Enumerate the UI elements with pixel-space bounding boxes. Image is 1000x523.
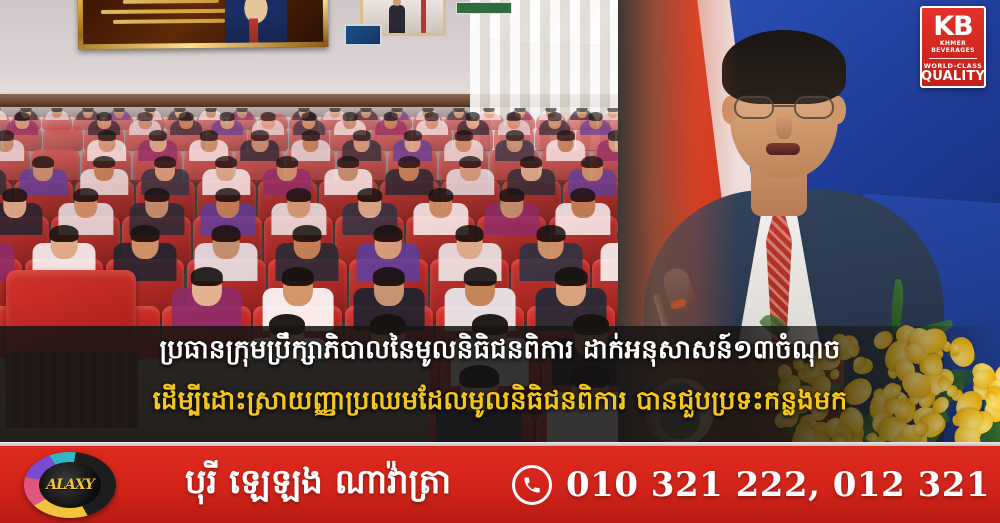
exit-sign: [456, 2, 512, 14]
kb-logo-tagline-main: QUALITY: [921, 70, 985, 84]
banner-portrait: [225, 0, 288, 49]
phone-contact-block[interactable]: 010 321 222, 012 321 222: [512, 452, 982, 518]
kb-logo-divider: [929, 58, 977, 59]
news-poster: ប្រធានក្រុមប្រឹក្សាភិបាលនៃមូលនិធិជនពិការ…: [0, 0, 1000, 523]
phone-numbers: 010 321 222, 012 321 222: [566, 465, 1000, 505]
kb-logo-subline-1: KHMER: [940, 40, 966, 47]
phone-call-icon: [512, 465, 552, 505]
kb-logo-mark: KB: [933, 13, 973, 40]
seat: [43, 126, 83, 151]
audience-member: [42, 108, 72, 120]
speaker-nose: [776, 115, 792, 139]
headline-line-1: ប្រធានក្រុមប្រឹក្សាភិបាលនៃមូលនិធិជនពិការ…: [0, 333, 1000, 371]
framed-banner-picture: [78, 0, 329, 49]
galaxy-logo[interactable]: ALAXY: [24, 452, 116, 518]
headline-line-2: ដើម្បីដោះស្រាយញ្ញាប្រឈមដែលមូលនិធិជនពិការ…: [0, 384, 1000, 422]
brand-name-khmer: បុរី ឡេឡង ណាវ៉ាត្រា: [128, 452, 508, 518]
kb-logo-subline-2: BEVERAGES: [931, 47, 975, 54]
galaxy-logo-text: ALAXY: [39, 462, 101, 508]
kb-sponsor-logo[interactable]: KB KHMER BEVERAGES WORLD-CLASS QUALITY: [920, 6, 986, 88]
framed-photo-figure: [389, 5, 405, 36]
framed-photo-accent: [421, 0, 426, 36]
wall-screen: [344, 24, 382, 46]
speaker-mouth: [766, 143, 800, 155]
